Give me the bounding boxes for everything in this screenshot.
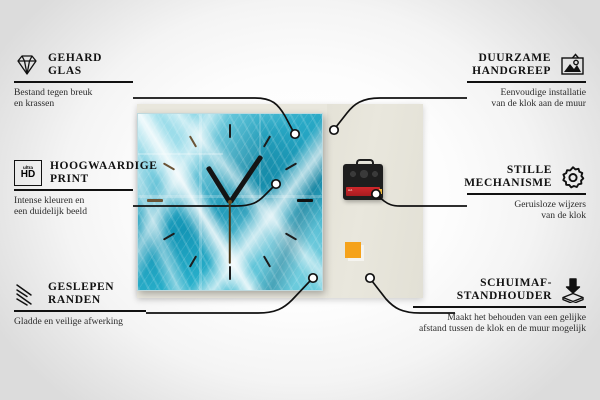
feature-duurzame-handgreep: DUURZAME HANDGREEP Eenvoudige installati…	[467, 52, 586, 110]
gear-icon	[560, 165, 586, 190]
wall-panel	[327, 104, 423, 298]
feature-description: Bestand tegen breuk en krassen	[14, 87, 133, 110]
clock-tick-8	[163, 232, 175, 240]
clock-tick-10	[163, 162, 175, 170]
feature-rule	[467, 81, 586, 83]
feature-rule	[14, 81, 133, 83]
infographic-canvas: AA	[0, 0, 600, 400]
feature-header: DUURZAME HANDGREEP	[467, 52, 586, 78]
ultra-hd-icon: ultra HD	[14, 160, 42, 186]
feature-title: HOOGWAARDIGE PRINT	[50, 160, 158, 186]
clock-minute-hand	[228, 154, 263, 203]
clock-center-hub	[228, 200, 232, 204]
product-photo: AA	[137, 104, 423, 298]
feature-rule	[467, 193, 586, 195]
diamond-icon	[14, 53, 40, 77]
feature-title: SCHUIMAF- STANDHOUDER	[413, 277, 552, 303]
clock-tick-11	[189, 135, 197, 147]
feature-rule	[14, 310, 146, 312]
clock-tick-6	[229, 266, 231, 280]
feature-description: Maakt het behouden van een gelijke afsta…	[413, 312, 586, 335]
feature-rule	[413, 306, 586, 308]
battery-label: AA	[348, 188, 352, 192]
clock-tick-3	[297, 199, 313, 202]
press-down-icon	[560, 277, 586, 303]
feature-description: Eenvoudige installatie van de klok aan d…	[467, 87, 586, 110]
foam-spacer	[345, 242, 361, 258]
feature-header: STILLE MECHANISME	[467, 164, 586, 190]
mechanism-detail	[347, 168, 379, 182]
clock-hour-hand	[206, 165, 232, 203]
feature-title: GESLEPEN RANDEN	[48, 281, 114, 307]
feature-header: SCHUIMAF- STANDHOUDER	[413, 277, 586, 303]
ultra-hd-bottom-label: HD	[21, 170, 35, 180]
feature-stille-mechanisme: STILLE MECHANISME Geruisloze wijzers van…	[467, 164, 586, 222]
clock-tick-9	[147, 199, 163, 202]
picture-frame-icon	[559, 53, 586, 77]
clock-mechanism: AA	[343, 164, 383, 200]
feature-geslepen-randen: GESLEPEN RANDEN Gladde en veilige afwerk…	[14, 281, 146, 327]
clock-tick-5	[263, 255, 271, 267]
feature-description: Gladde en veilige afwerking	[14, 316, 146, 328]
feature-header: GEHARD GLAS	[14, 52, 133, 78]
feature-schuimafstandhouder: SCHUIMAF- STANDHOUDER Maakt het behouden…	[413, 277, 586, 335]
feature-gehard-glas: GEHARD GLAS Bestand tegen breuk en krass…	[14, 52, 133, 110]
feature-rule	[14, 189, 133, 191]
feature-title: GEHARD GLAS	[48, 52, 102, 78]
glass-clock	[137, 113, 323, 291]
feature-description: Intense kleuren en een duidelijk beeld	[14, 195, 133, 218]
feature-header: ultra HD HOOGWAARDIGE PRINT	[14, 160, 133, 186]
clock-tick-4	[285, 232, 297, 240]
beveled-edges-icon	[14, 282, 40, 306]
clock-tick-2	[285, 162, 297, 170]
clock-tick-12	[229, 124, 231, 138]
battery: AA	[346, 187, 380, 196]
clock-second-hand	[229, 202, 231, 264]
clock-face	[138, 114, 322, 290]
feature-header: GESLEPEN RANDEN	[14, 281, 146, 307]
feature-title: STILLE MECHANISME	[464, 164, 552, 190]
feature-title: DUURZAME HANDGREEP	[467, 52, 551, 78]
feature-description: Geruisloze wijzers van de klok	[467, 199, 586, 222]
clock-tick-7	[189, 255, 197, 267]
clock-tick-1	[263, 135, 271, 147]
feature-hoogwaardige-print: ultra HD HOOGWAARDIGE PRINT Intense kleu…	[14, 160, 133, 218]
